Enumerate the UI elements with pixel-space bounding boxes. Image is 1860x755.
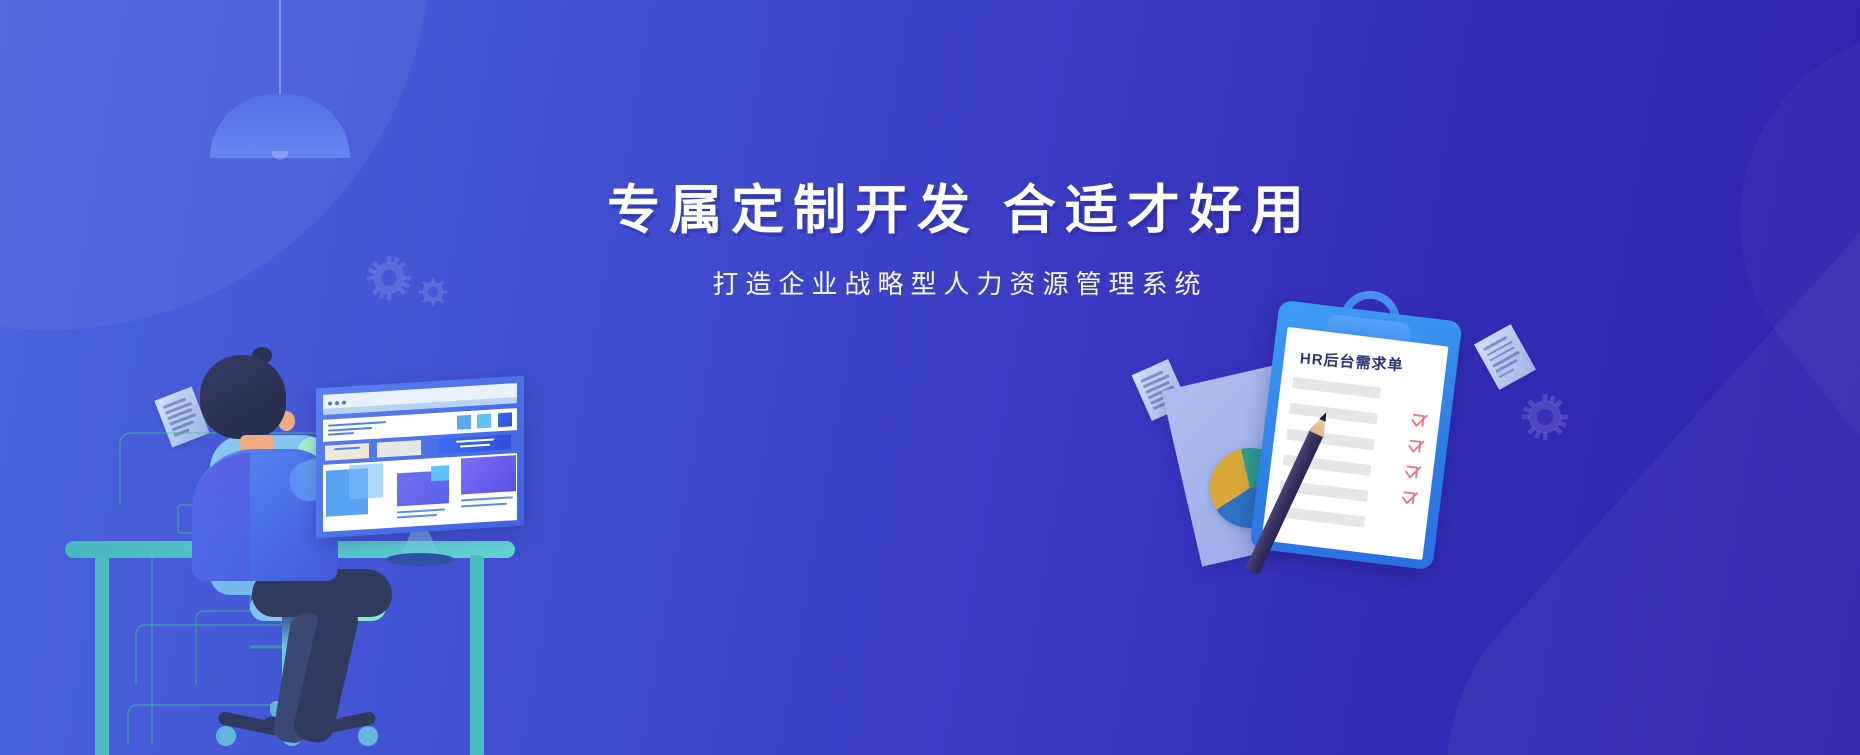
mock-content-area <box>323 453 517 532</box>
checkmark-icon <box>1406 437 1426 457</box>
mock-block-5 <box>461 455 516 494</box>
checklist-text-line <box>1292 377 1381 399</box>
mock-block-4 <box>431 465 449 481</box>
mock-chip-2 <box>377 440 421 458</box>
desk-leg-left <box>95 555 109 755</box>
mock-text-lines <box>328 421 386 438</box>
mock-caption-2 <box>397 514 437 518</box>
checkmark-icon <box>1403 463 1423 483</box>
developer-at-desk-illustration <box>0 195 640 755</box>
mock-caption-3 <box>461 496 513 501</box>
clipboard-title: HR后台需求单 <box>1299 347 1404 375</box>
monitor-base <box>386 553 454 566</box>
person-hair <box>200 355 286 439</box>
mock-square-3 <box>498 412 512 427</box>
checklist-row <box>1292 376 1431 406</box>
lamp-cord <box>279 0 281 96</box>
hr-clipboard-illustration: HR后台需求单 <box>1180 310 1500 640</box>
gear-right-icon <box>1521 393 1569 441</box>
checklist-row <box>1276 505 1415 535</box>
lamp-shade <box>210 94 350 158</box>
checkmark-icon <box>1400 489 1420 509</box>
clipboard-paper: HR后台需求单 <box>1261 327 1448 560</box>
checkmark-icon <box>1409 412 1429 432</box>
mock-chip-1 <box>325 443 369 461</box>
mock-square-1 <box>457 415 471 430</box>
monitor-screen-content <box>323 383 517 532</box>
hero-banner: 专属定制开发 合适才好用 打造企业战略型人力资源管理系统 <box>0 0 1860 755</box>
mock-chip-3 <box>439 434 511 453</box>
desktop-monitor <box>316 382 524 532</box>
pendant-lamp-icon <box>210 0 350 156</box>
mock-block-2 <box>349 463 383 499</box>
mock-caption-1 <box>397 508 445 513</box>
mock-square-2 <box>477 414 491 429</box>
person-torso-shadow <box>192 453 250 581</box>
window-dots-icon <box>328 401 346 406</box>
mock-caption-4 <box>461 503 507 508</box>
